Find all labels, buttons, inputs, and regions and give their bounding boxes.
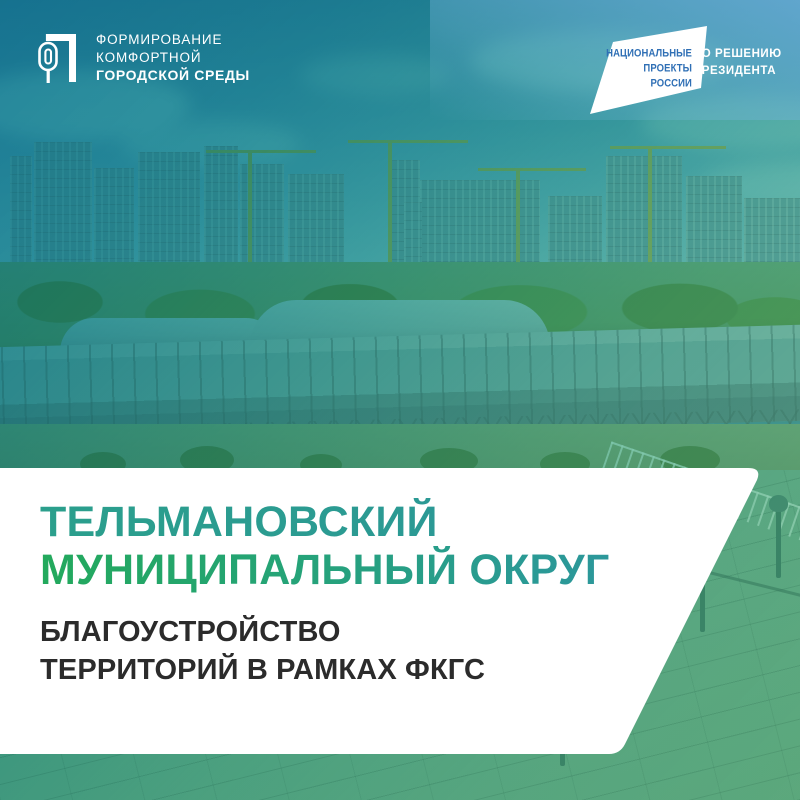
- national-projects-badge: НАЦИОНАЛЬНЫЕ ПРОЕКТЫ РОССИИ ПО РЕШЕНИЮ П…: [588, 24, 788, 116]
- np-flag-line-2: ПРОЕКТЫ: [602, 61, 692, 76]
- brand-line-3: ГОРОДСКОЙ СРЕДЫ: [96, 66, 250, 84]
- page-subtitle-line-1: БЛАГОУСТРОЙСТВО: [40, 614, 680, 652]
- brand-line-1: ФОРМИРОВАНИЕ: [96, 31, 250, 49]
- np-flag-line-1: НАЦИОНАЛЬНЫЕ: [602, 46, 692, 61]
- brand-text-block: ФОРМИРОВАНИЕ КОМФОРТНОЙ ГОРОДСКОЙ СРЕДЫ: [96, 31, 250, 84]
- page-subtitle-line-2: ТЕРРИТОРИЙ В РАМКАХ ФКГС: [40, 652, 680, 690]
- np-side-line-1: ПО РЕШЕНИЮ: [693, 46, 782, 63]
- presidential-decision-text: ПО РЕШЕНИЮ ПРЕЗИДЕНТА: [693, 46, 782, 81]
- page-title-line-2: МУНИЦИПАЛЬНЫЙ ОКРУГ: [40, 546, 680, 594]
- page-title-line-1: ТЕЛЬМАНОВСКИЙ: [40, 498, 680, 546]
- door-key-logo-icon: [36, 30, 82, 86]
- brand-lockup: ФОРМИРОВАНИЕ КОМФОРТНОЙ ГОРОДСКОЙ СРЕДЫ: [36, 30, 250, 86]
- np-flag-line-3: РОССИИ: [602, 76, 692, 91]
- title-block: ТЕЛЬМАНОВСКИЙ МУНИЦИПАЛЬНЫЙ ОКРУГ БЛАГОУ…: [40, 498, 680, 690]
- page-subtitle: БЛАГОУСТРОЙСТВО ТЕРРИТОРИЙ В РАМКАХ ФКГС: [40, 614, 680, 689]
- poster-canvas: ФОРМИРОВАНИЕ КОМФОРТНОЙ ГОРОДСКОЙ СРЕДЫ …: [0, 0, 800, 800]
- brand-line-2: КОМФОРТНОЙ: [96, 49, 250, 67]
- national-projects-flag-text: НАЦИОНАЛЬНЫЕ ПРОЕКТЫ РОССИИ: [602, 46, 692, 92]
- np-side-line-2: ПРЕЗИДЕНТА: [693, 63, 782, 80]
